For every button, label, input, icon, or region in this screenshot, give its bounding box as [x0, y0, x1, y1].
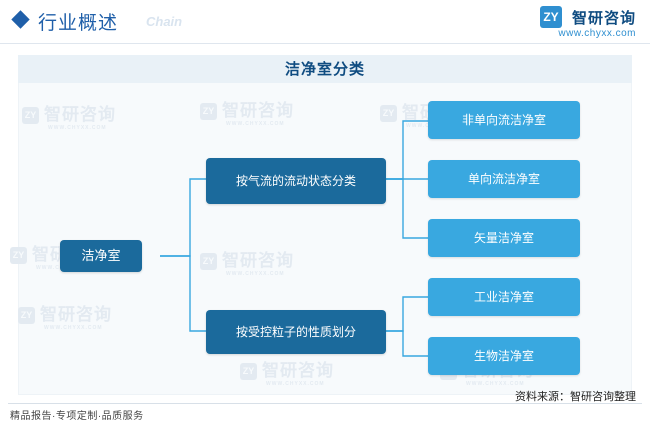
page-subtitle: Chain [146, 14, 182, 29]
node-root[interactable]: 洁净室 [60, 240, 142, 272]
node-branch-airflow[interactable]: 按气流的流动状态分类 [206, 158, 386, 204]
diagram-title: 洁净室分类 [18, 58, 632, 79]
brand-logo-text: 智研咨询 [572, 7, 636, 28]
footer-divider [8, 403, 642, 404]
node-leaf-biological[interactable]: 生物洁净室 [428, 337, 580, 375]
brand-logo-mark: ZY [540, 6, 562, 28]
page-title: 行业概述 [38, 8, 118, 35]
footer-tagline: 精品报告·专项定制·品质服务 [10, 407, 144, 422]
node-leaf-industrial[interactable]: 工业洁净室 [428, 278, 580, 316]
node-leaf-vector[interactable]: 矢量洁净室 [428, 219, 580, 257]
header-divider [0, 43, 650, 44]
diamond-icon [11, 10, 29, 28]
node-leaf-unidirectional[interactable]: 单向流洁净室 [428, 160, 580, 198]
node-branch-particle[interactable]: 按受控粒子的性质划分 [206, 310, 386, 354]
source-note: 资料来源：智研咨询整理 [515, 388, 636, 404]
page-header: 行业概述 Chain ZY 智研咨询 www.chyxx.com [0, 0, 650, 44]
brand-website-link[interactable]: www.chyxx.com [558, 28, 636, 39]
node-leaf-non-unidirectional[interactable]: 非单向流洁净室 [428, 101, 580, 139]
